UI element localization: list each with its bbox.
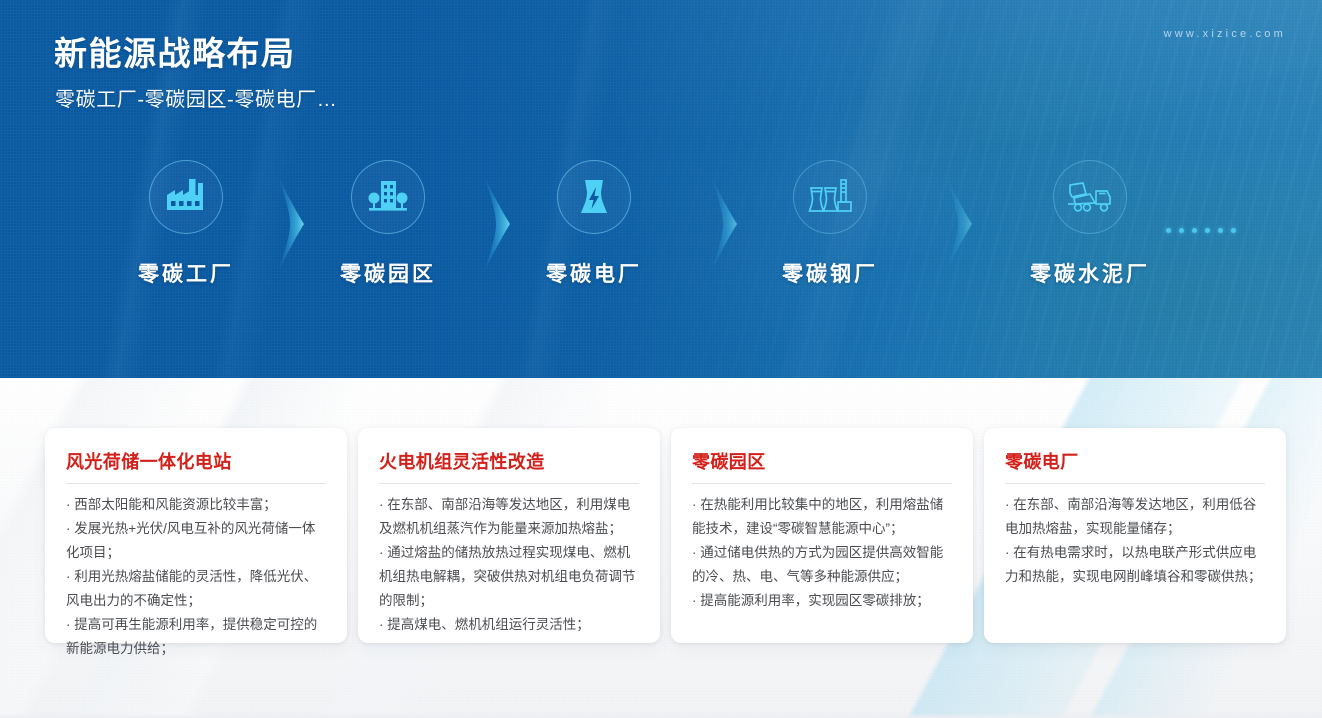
dot-icon — [1231, 228, 1236, 233]
chevron-right-icon — [710, 178, 740, 270]
flow-step-cement-plant[interactable]: 零碳水泥厂 — [990, 160, 1190, 288]
dot-icon — [1192, 228, 1197, 233]
card-bullet: · 提高能源利用率，实现园区零碳排放； — [692, 589, 952, 613]
card-bullet: · 通过储电供热的方式为园区提供高效智能的冷、热、电、气等多种能源供应； — [692, 541, 952, 589]
card-body: · 西部太阳能和风能资源比较丰富； · 发展光热+光伏/风电互补的风光荷储一体化… — [66, 493, 326, 661]
card-body: · 在热能利用比较集中的地区，利用熔盐储能技术，建设“零碳智慧能源中心”； · … — [692, 493, 952, 613]
card-bullet: · 利用光热熔盐储能的灵活性，降低光伏、风电出力的不确定性； — [66, 565, 326, 613]
flow-step-steel-mill[interactable]: 零碳钢厂 — [750, 160, 910, 288]
card-divider — [692, 483, 952, 484]
flow-step-industrial-park[interactable]: 零碳园区 — [308, 160, 468, 288]
card-bullet: · 西部太阳能和风能资源比较丰富； — [66, 493, 326, 517]
dot-icon — [1218, 228, 1223, 233]
flow-trailing-dots — [1166, 228, 1236, 233]
card-divider — [66, 483, 326, 484]
card-divider — [1005, 483, 1265, 484]
flow-step-label: 零碳钢厂 — [750, 258, 910, 288]
office-park-icon — [351, 160, 425, 234]
card-bullet: · 在东部、南部沿海等发达地区，利用煤电及燃机机组蒸汽作为能量来源加热熔盐； — [379, 493, 639, 541]
card-wind-solar-storage[interactable]: 风光荷储一体化电站 · 西部太阳能和风能资源比较丰富； · 发展光热+光伏/风电… — [45, 428, 347, 643]
flow-step-label: 零碳电厂 — [514, 258, 674, 288]
steel-mill-icon — [793, 160, 867, 234]
flow-step-label: 零碳园区 — [308, 258, 468, 288]
dot-icon — [1179, 228, 1184, 233]
card-title: 零碳电厂 — [1005, 448, 1265, 483]
dot-icon — [1166, 228, 1171, 233]
card-zero-carbon-power-plant[interactable]: 零碳电厂 · 在东部、南部沿海等发达地区，利用低谷电加热熔盐，实现能量储存； ·… — [984, 428, 1286, 643]
bottom-edge — [0, 713, 1322, 718]
card-bullet: · 发展光热+光伏/风电互补的风光荷储一体化项目； — [66, 517, 326, 565]
chevron-right-icon — [483, 178, 513, 270]
cement-mixer-truck-icon — [1053, 160, 1127, 234]
content-area: 风光荷储一体化电站 · 西部太阳能和风能资源比较丰富； · 发展光热+光伏/风电… — [0, 378, 1322, 718]
factory-icon — [149, 160, 223, 234]
card-title: 零碳园区 — [692, 448, 952, 483]
chevron-right-icon — [945, 178, 975, 270]
process-flow: 零碳工厂 — [0, 160, 1322, 310]
flow-step-factory[interactable]: 零碳工厂 — [106, 160, 266, 288]
card-body: · 在东部、南部沿海等发达地区，利用煤电及燃机机组蒸汽作为能量来源加热熔盐； ·… — [379, 493, 639, 637]
card-bullet: · 提高可再生能源利用率，提供稳定可控的新能源电力供给； — [66, 613, 326, 661]
card-divider — [379, 483, 639, 484]
card-body: · 在东部、南部沿海等发达地区，利用低谷电加热熔盐，实现能量储存； · 在有热电… — [1005, 493, 1265, 589]
card-bullet: · 在有热电需求时，以热电联产形式供应电力和热能，实现电网削峰填谷和零碳供热； — [1005, 541, 1265, 589]
power-plant-bolt-icon — [557, 160, 631, 234]
card-bullet: · 通过熔盐的储热放热过程实现煤电、燃机机组热电解耦，突破供热对机组电负荷调节的… — [379, 541, 639, 613]
hero-banner: www.xizice.com 新能源战略布局 零碳工厂-零碳园区-零碳电厂… — [0, 0, 1322, 378]
chevron-right-icon — [277, 178, 307, 270]
flow-step-power-plant[interactable]: 零碳电厂 — [514, 160, 674, 288]
flow-step-label: 零碳工厂 — [106, 258, 266, 288]
card-bullet: · 提高煤电、燃机机组运行灵活性； — [379, 613, 639, 637]
card-title: 风光荷储一体化电站 — [66, 448, 326, 483]
card-thermal-flexibility[interactable]: 火电机组灵活性改造 · 在东部、南部沿海等发达地区，利用煤电及燃机机组蒸汽作为能… — [358, 428, 660, 643]
card-bullet: · 在热能利用比较集中的地区，利用熔盐储能技术，建设“零碳智慧能源中心”； — [692, 493, 952, 541]
page-subtitle: 零碳工厂-零碳园区-零碳电厂… — [55, 83, 337, 112]
flow-step-label: 零碳水泥厂 — [990, 258, 1190, 288]
page-title: 新能源战略布局 — [54, 27, 296, 75]
dot-icon — [1205, 228, 1210, 233]
card-bullet: · 在东部、南部沿海等发达地区，利用低谷电加热熔盐，实现能量储存； — [1005, 493, 1265, 541]
card-title: 火电机组灵活性改造 — [379, 448, 639, 483]
site-watermark: www.xizice.com — [1164, 28, 1286, 40]
card-zero-carbon-park[interactable]: 零碳园区 · 在热能利用比较集中的地区，利用熔盐储能技术，建设“零碳智慧能源中心… — [671, 428, 973, 643]
